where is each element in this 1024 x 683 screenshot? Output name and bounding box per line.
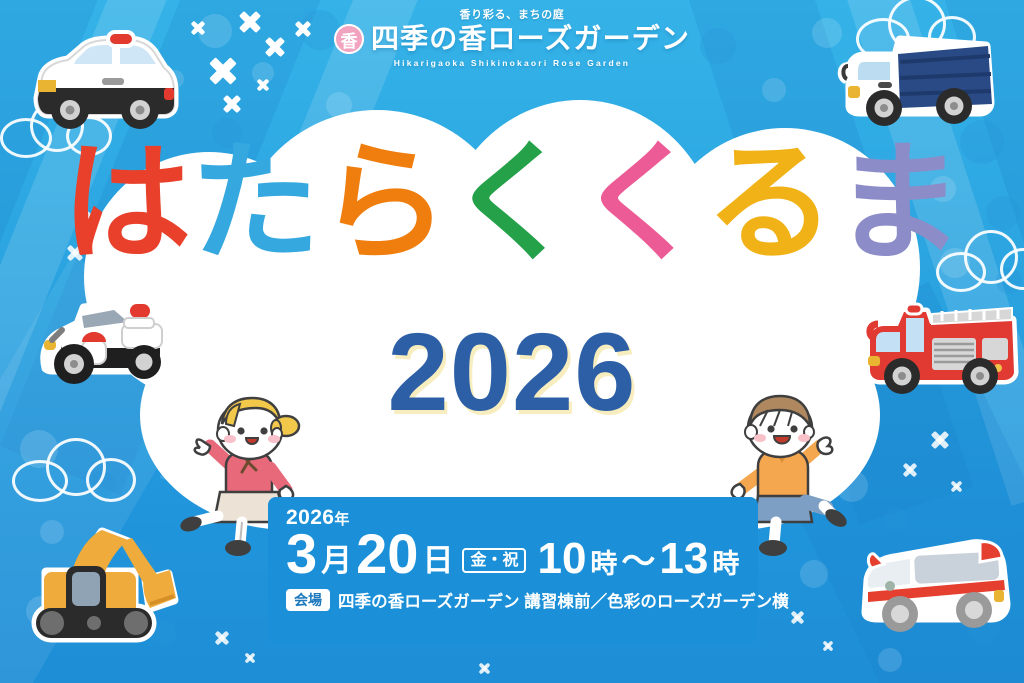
title-char-4: く (576, 138, 705, 268)
logo-seal-icon: 香 (334, 24, 364, 54)
garden-logo: 香り彩る、まちの庭 香 四季の香ローズガーデン Hikarigaoka Shik… (0, 6, 1024, 68)
title-char-0: は (62, 138, 191, 268)
event-time-end-unit: 時 (712, 552, 739, 581)
event-info-bar: 2026年 3 月 20 日 金・祝 10 時 〜 13 時 会場 四季の香ロー… (268, 497, 758, 645)
logo-garden-name: 四季の香ローズガーデン (371, 25, 690, 53)
event-day-unit: 日 (422, 545, 453, 580)
event-date-row: 3 月 20 日 金・祝 10 時 〜 13 時 (286, 527, 758, 580)
event-weekday-chip: 金・祝 (462, 548, 526, 574)
event-time-start: 10 (537, 538, 586, 580)
event-year-suffix: 年 (334, 511, 349, 528)
title-char-2: ら (319, 138, 448, 268)
poster-title: はたらくくるま (0, 138, 1024, 268)
event-month-unit: 月 (321, 545, 352, 580)
ambulance-illustration (854, 528, 1014, 638)
logo-romaji: Hikarigaoka Shikinokaori Rose Garden (394, 58, 630, 68)
event-month: 3 (286, 527, 317, 580)
event-time-start-unit: 時 (590, 552, 617, 581)
venue-chip: 会場 (286, 589, 330, 611)
venue-text: 四季の香ローズガーデン 講習棟前／色彩のローズガーデン横 (338, 588, 789, 612)
title-char-3: く (448, 138, 577, 268)
logo-tagline: 香り彩る、まちの庭 (460, 6, 565, 22)
event-day: 20 (356, 527, 418, 580)
event-poster: 香り彩る、まちの庭 香 四季の香ローズガーデン Hikarigaoka Shik… (0, 0, 1024, 683)
event-venue-row: 会場 四季の香ローズガーデン 講習棟前／色彩のローズガーデン横 (286, 588, 758, 612)
title-char-5: る (705, 138, 834, 268)
title-char-6: ま (834, 138, 963, 268)
event-time-separator: 〜 (621, 546, 655, 580)
excavator-illustration (16, 516, 186, 648)
event-time-end: 13 (659, 538, 708, 580)
title-char-1: た (190, 138, 319, 268)
poster-year: 2026 (0, 318, 1024, 428)
